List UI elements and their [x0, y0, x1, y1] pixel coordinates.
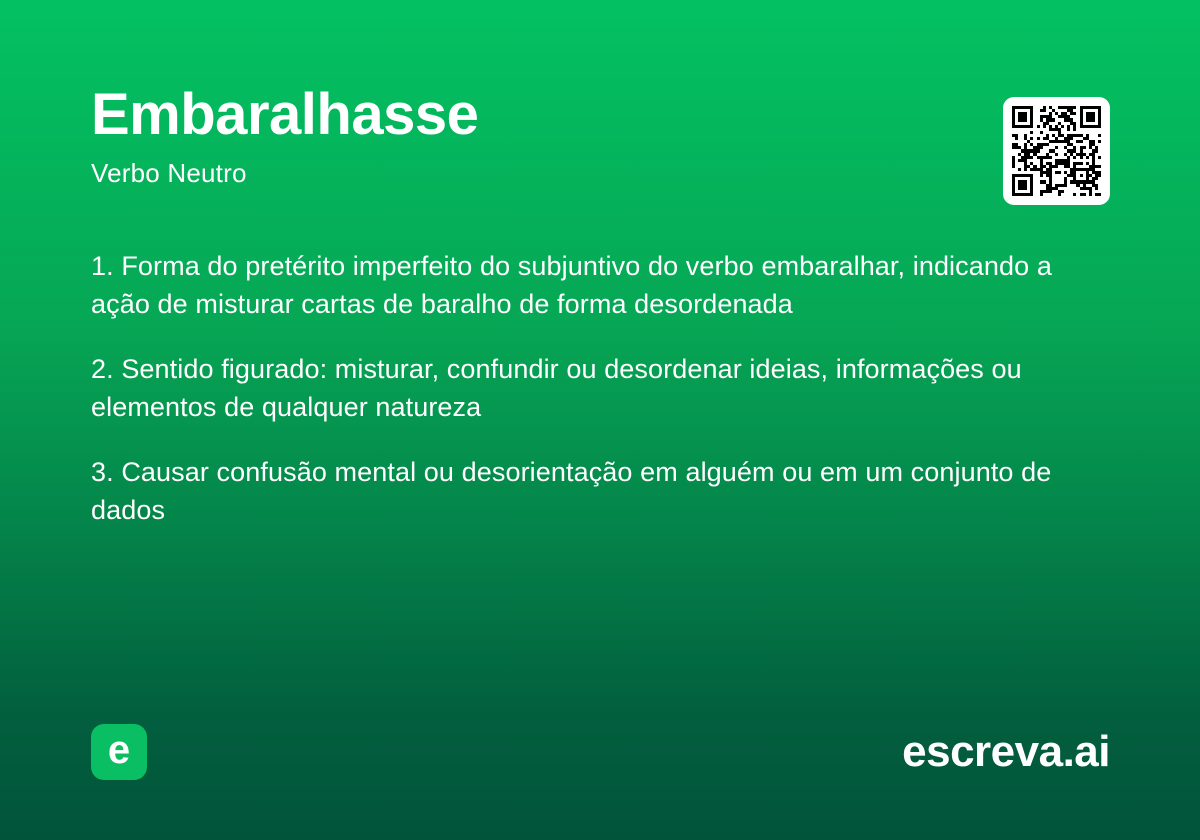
logo-letter: e	[108, 730, 130, 770]
card-header: Embaralhasse Verbo Neutro	[91, 86, 1060, 186]
qr-code-icon[interactable]	[1003, 97, 1110, 205]
page-title: Embaralhasse	[91, 86, 1060, 144]
brand-name: escreva.ai	[902, 727, 1110, 778]
definition-list: 1. Forma do pretérito imperfeito do subj…	[91, 247, 1086, 529]
qr-code-matrix	[1012, 106, 1101, 196]
logo-icon: e	[91, 724, 147, 780]
definition-item-2: 2. Sentido figurado: misturar, confundir…	[91, 350, 1086, 426]
definition-item-1: 1. Forma do pretérito imperfeito do subj…	[91, 247, 1086, 323]
word-definition-card: Embaralhasse Verbo Neutro 1. Forma do pr…	[0, 0, 1200, 840]
word-class-label: Verbo Neutro	[91, 160, 1060, 186]
definition-item-3: 3. Causar confusão mental ou desorientaç…	[91, 453, 1086, 529]
